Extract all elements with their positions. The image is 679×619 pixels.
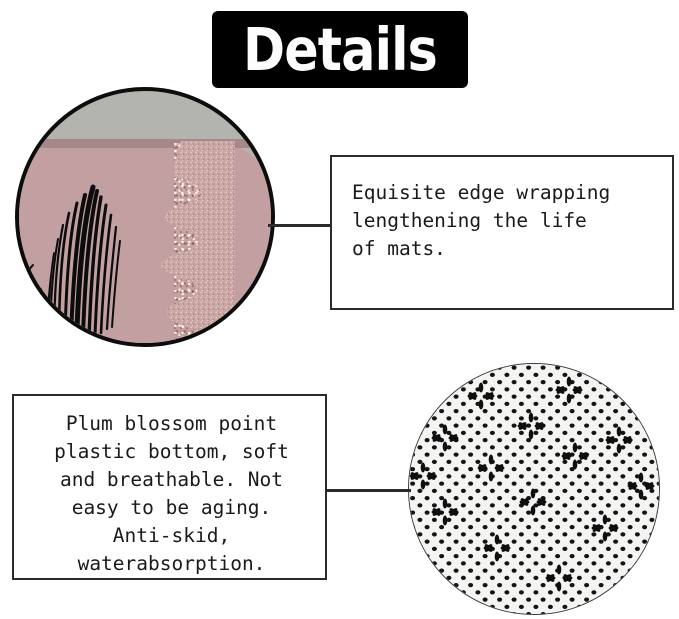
details-banner: Details: [212, 11, 468, 88]
callout-box-plum-bottom: Plum blossom point plastic bottom, soft …: [12, 394, 327, 580]
callout-text-edge-wrapping: Equisite edge wrapping lengthening the l…: [352, 179, 664, 263]
mat-corner-closeup-image: [15, 87, 275, 347]
mat-corner-photo-content: [19, 91, 271, 343]
callout-box-edge-wrapping: Equisite edge wrapping lengthening the l…: [330, 155, 674, 310]
anti-skid-bottom-image: [408, 363, 660, 615]
banner-title: Details: [230, 11, 450, 88]
connector-line-plum-bottom: [325, 489, 411, 492]
cursive-script-artwork: [19, 259, 73, 343]
callout-text-plum-bottom: Plum blossom point plastic bottom, soft …: [22, 410, 321, 578]
product-detail-infographic: Details: [0, 0, 679, 619]
connector-line-edge-wrapping: [268, 224, 332, 227]
